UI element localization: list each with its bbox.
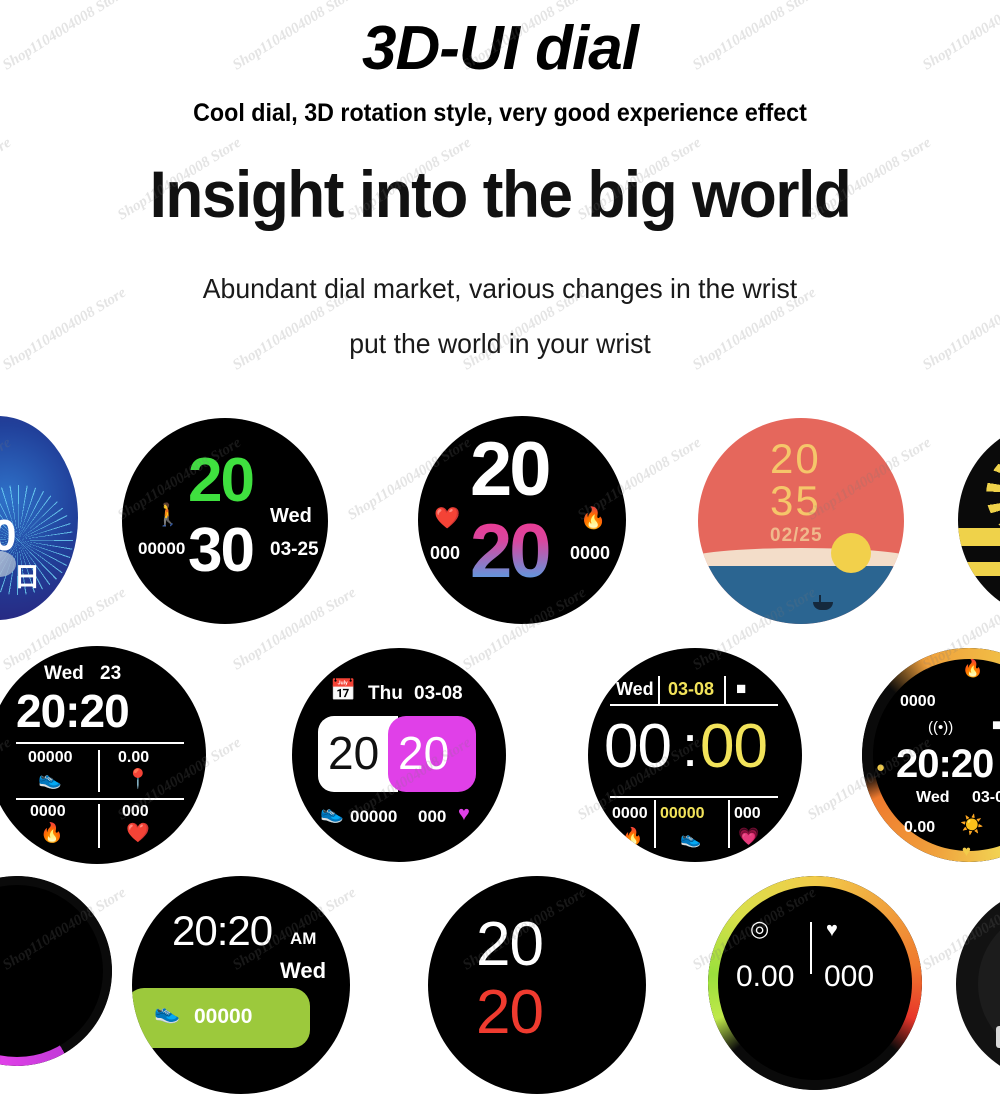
- minute-value: 30: [188, 520, 253, 582]
- hour-value: 20: [770, 438, 821, 480]
- steps-value: 00000: [138, 540, 185, 557]
- minute-value: 20: [470, 514, 549, 590]
- divider-top: [16, 742, 184, 744]
- drop-icon: ●: [876, 760, 885, 775]
- heart-icon: ♥: [826, 920, 838, 940]
- weekday-value: Wed: [916, 790, 949, 806]
- divider-bottom: [610, 796, 778, 798]
- flame-icon: 🔥: [40, 824, 64, 843]
- shoe-icon: 👟: [320, 804, 344, 823]
- time-value: 20:20: [172, 910, 272, 952]
- page-subtitle: Cool dial, 3D rotation style, very good …: [35, 99, 965, 128]
- steps-value: 00000: [194, 1006, 252, 1027]
- hour-value: 20: [188, 450, 253, 512]
- page-title: 3D-UI dial: [0, 0, 1000, 81]
- calories-value: 0000: [612, 806, 648, 822]
- date-window: [996, 1026, 1000, 1048]
- distance-value: 0.00: [904, 820, 935, 836]
- divider-v-top-1: [658, 676, 660, 706]
- stripe-bar-2: [958, 562, 1000, 576]
- steps-value: 00000: [350, 808, 397, 825]
- location-icon: ◎: [750, 918, 769, 940]
- stripe-bar-1: [958, 528, 1000, 546]
- shoe-icon: 👟: [38, 770, 62, 789]
- location-icon: 📍: [126, 770, 150, 789]
- distance-value: 0.00: [118, 750, 149, 766]
- weekday-value: Wed: [44, 664, 84, 683]
- time-colon: :: [682, 718, 698, 776]
- dial-tachymeter[interactable]: [956, 886, 1000, 1082]
- heart-icon: ♥: [458, 804, 470, 824]
- heart-icon: ❤️: [126, 824, 150, 843]
- flame-icon: 🔥: [622, 828, 643, 845]
- heart-rate-icon: 💗: [738, 828, 759, 845]
- calendar-icon: 📅: [330, 680, 356, 701]
- foam-shape: [698, 548, 904, 567]
- flame-icon: 🔥: [580, 508, 606, 529]
- meridiem-value: AM: [290, 930, 316, 947]
- signal-icon: ((•)): [928, 720, 953, 735]
- heart-icon: ♥: [962, 844, 971, 859]
- minute-value: 00: [700, 716, 767, 778]
- hour-value: 20: [328, 730, 379, 776]
- date-value: 03-08: [414, 684, 463, 703]
- heart-value: 000: [430, 544, 460, 562]
- steps-value: 00000: [28, 750, 73, 766]
- sea-shape: [698, 558, 904, 624]
- heart-value: 000: [824, 962, 874, 992]
- body-line-2: put the world in your wrist: [25, 317, 975, 370]
- dial-gradient-stacked[interactable]: ❤️ 000 🔥 0000 20 20: [418, 416, 626, 624]
- body-line-1: Abundant dial market, various changes in…: [25, 262, 975, 315]
- divider-vertical: [810, 922, 812, 974]
- dial-magenta-arc[interactable]: 6: [0, 876, 112, 1066]
- dial-am-card[interactable]: 20:20 AM Wed 👟 00000: [132, 876, 350, 1094]
- calories-value: 0000: [30, 804, 66, 820]
- divider-top: [610, 704, 778, 706]
- dial-red-stacked[interactable]: 20 20: [428, 876, 646, 1094]
- hour-value: 00: [604, 716, 671, 778]
- shoe-icon: 👟: [680, 830, 701, 847]
- steps-value: 00000: [660, 806, 705, 822]
- battery-icon: ■: [992, 718, 1000, 734]
- partial-digit: 0: [0, 514, 16, 558]
- date-value: 03-08: [972, 790, 1000, 806]
- weekday-value: Wed: [616, 680, 654, 698]
- divider-vertical-2: [98, 804, 100, 848]
- heart-value: 000: [418, 808, 446, 825]
- hour-value: 20: [476, 914, 543, 976]
- shoe-icon: 👟: [154, 1002, 180, 1023]
- dial-green-stacked[interactable]: 🚶 00000 20 30 Wed 03-25: [122, 418, 328, 624]
- dial-four-quadrant[interactable]: Wed 23 20:20 00000 👟 0.00 📍 0000 🔥 000 ❤…: [0, 646, 206, 864]
- calorie-value: 0000: [570, 544, 610, 562]
- dial-sunset-seascape[interactable]: 20 35 02/25: [698, 418, 904, 624]
- minute-value: 20: [398, 730, 449, 776]
- headline: Insight into the big world: [30, 156, 970, 232]
- heart-icon: ❤️: [434, 508, 460, 529]
- walk-icon: 🚶: [154, 504, 181, 526]
- header-block: 3D-UI dial Cool dial, 3D rotation style,…: [0, 0, 1000, 370]
- date-value: 02/25: [770, 526, 823, 545]
- divider-v-bot-1: [654, 800, 656, 848]
- divider-vertical-1: [98, 750, 100, 792]
- battery-icon: ■: [736, 680, 746, 697]
- minute-value: 20: [476, 982, 543, 1044]
- divider-v-bot-2: [728, 800, 730, 848]
- dial-gallery: 日 0 🚶 00000 20 30 Wed 03-25 ❤️ 000 🔥 000…: [0, 408, 1000, 1000]
- heart-value: 000: [122, 804, 149, 820]
- dial-orange-arc[interactable]: 🔥 0000 0000 ((•)) ■ 20:20 Wed 03-08 0.00…: [862, 648, 1000, 862]
- date-value: 03-08: [668, 680, 714, 698]
- time-value: 20:20: [896, 744, 993, 784]
- dial-magenta-block[interactable]: 📅 Thu 03-08 20 20 👟 00000 000 ♥: [292, 648, 506, 862]
- dial-yellow-stripe[interactable]: |: [958, 420, 1000, 620]
- dial-rainbow-ring[interactable]: ◎ ♥ 0.00 000: [708, 876, 922, 1090]
- weekday-value: Thu: [368, 684, 403, 703]
- weekday-value: Wed: [280, 960, 326, 982]
- hour-value: 20: [470, 432, 549, 508]
- distance-value: 0.00: [736, 962, 794, 992]
- dial-glyph: 日: [14, 564, 40, 590]
- weekday-value: Wed: [270, 506, 312, 526]
- dial-firework-night[interactable]: 日 0: [0, 416, 78, 620]
- dial-yellow-accent[interactable]: Wed 03-08 ■ 00 : 00 0000 🔥 00000 👟 000 💗: [588, 648, 802, 862]
- left-value: 0000: [900, 694, 936, 710]
- divider-bottom: [16, 798, 184, 800]
- time-value: 20:20: [16, 688, 129, 734]
- minute-value: 35: [770, 480, 821, 522]
- sun-icon: ☀️: [960, 816, 984, 835]
- date-value: 03-25: [270, 540, 319, 559]
- day-value: 23: [100, 664, 121, 683]
- heart-value: 000: [734, 806, 761, 822]
- divider-v-top-2: [724, 676, 726, 706]
- flame-icon: 🔥: [962, 660, 983, 677]
